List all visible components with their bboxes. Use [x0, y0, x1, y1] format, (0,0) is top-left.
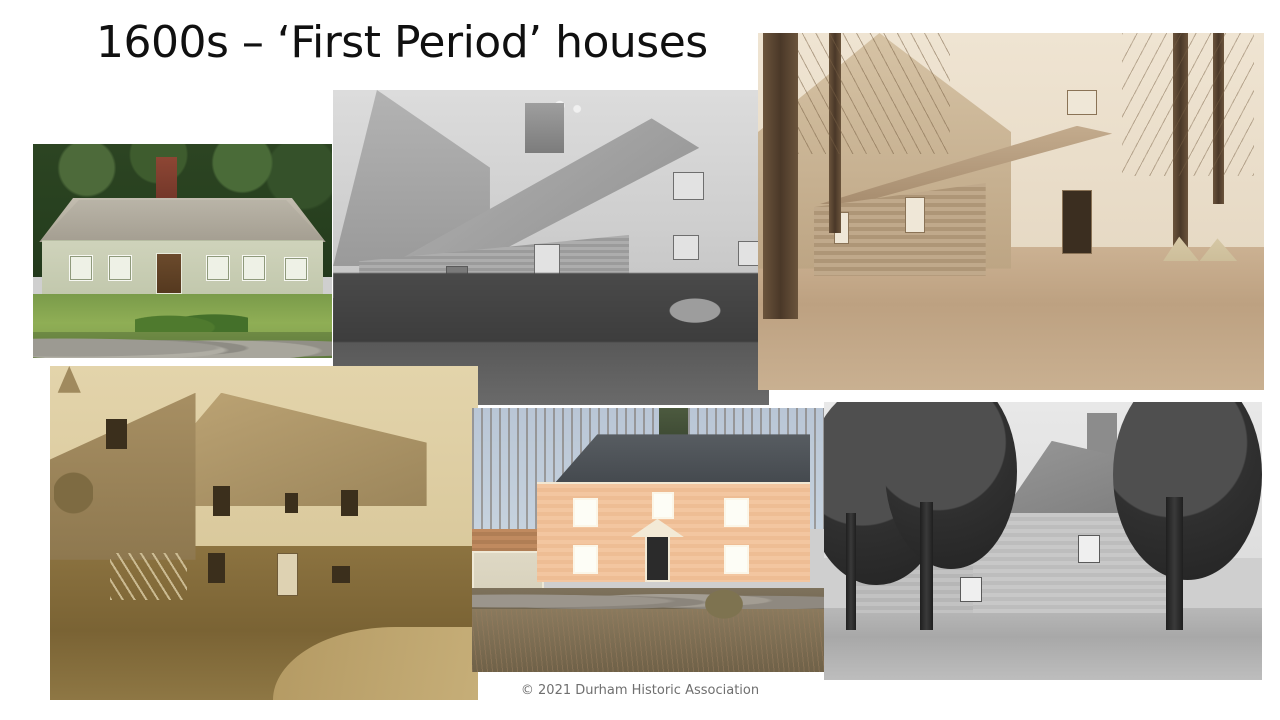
grassy-rise — [824, 608, 1262, 680]
photo-sage-green-cape-house[interactable] — [33, 144, 332, 358]
page-title: 1600s – ‘First Period’ houses — [96, 12, 736, 74]
photo-saltbox-house[interactable] — [333, 90, 769, 405]
photo-house-on-skids[interactable] — [758, 33, 1264, 390]
copyright-footer: © 2021 Durham Historic Association — [0, 680, 1280, 702]
window — [213, 486, 230, 516]
front-door — [156, 253, 183, 294]
window — [724, 498, 749, 527]
window — [573, 498, 598, 527]
stone-wall — [33, 332, 332, 358]
dry-brush — [472, 609, 832, 672]
window — [332, 566, 349, 583]
photo-garrison-house[interactable] — [50, 366, 478, 700]
window — [652, 492, 674, 518]
bare-branches — [1122, 33, 1254, 176]
window — [724, 545, 749, 574]
window — [106, 419, 127, 449]
tree-trunk — [846, 513, 857, 630]
bare-branches — [798, 33, 950, 154]
photo-scene — [472, 408, 832, 672]
shrub — [695, 582, 753, 619]
window — [206, 255, 230, 281]
window — [108, 255, 132, 281]
stone-chimney — [525, 103, 564, 153]
window — [341, 490, 358, 517]
tree-trunk — [920, 502, 933, 630]
window — [673, 235, 699, 260]
front-door — [277, 553, 298, 596]
window — [285, 493, 298, 513]
window — [673, 172, 704, 200]
window — [1078, 535, 1100, 563]
tree-trunk — [1166, 497, 1184, 630]
window — [69, 255, 93, 281]
photo-peach-colonial-house[interactable] — [472, 408, 832, 672]
shrub — [54, 453, 93, 533]
window — [242, 255, 266, 281]
window — [905, 197, 925, 233]
tree-trunk — [763, 33, 798, 319]
photo-scene — [50, 366, 478, 700]
window — [573, 545, 598, 574]
photo-scene — [824, 402, 1262, 680]
photo-colonial-house-behind-trees[interactable] — [824, 402, 1262, 680]
roof — [39, 200, 326, 243]
window — [960, 577, 982, 602]
front-door — [645, 535, 670, 583]
window — [284, 257, 308, 281]
photo-scene — [758, 33, 1264, 390]
window — [208, 553, 225, 583]
copyright-text: © 2021 Durham Historic Association — [511, 680, 769, 702]
boulders — [656, 292, 734, 324]
gable-window — [1067, 90, 1097, 115]
photo-scene — [33, 144, 332, 358]
leaning-boards — [110, 553, 187, 600]
doorway — [1062, 190, 1092, 254]
slide: 1600s – ‘First Period’ houses — [0, 0, 1280, 720]
photo-scene — [333, 90, 769, 405]
